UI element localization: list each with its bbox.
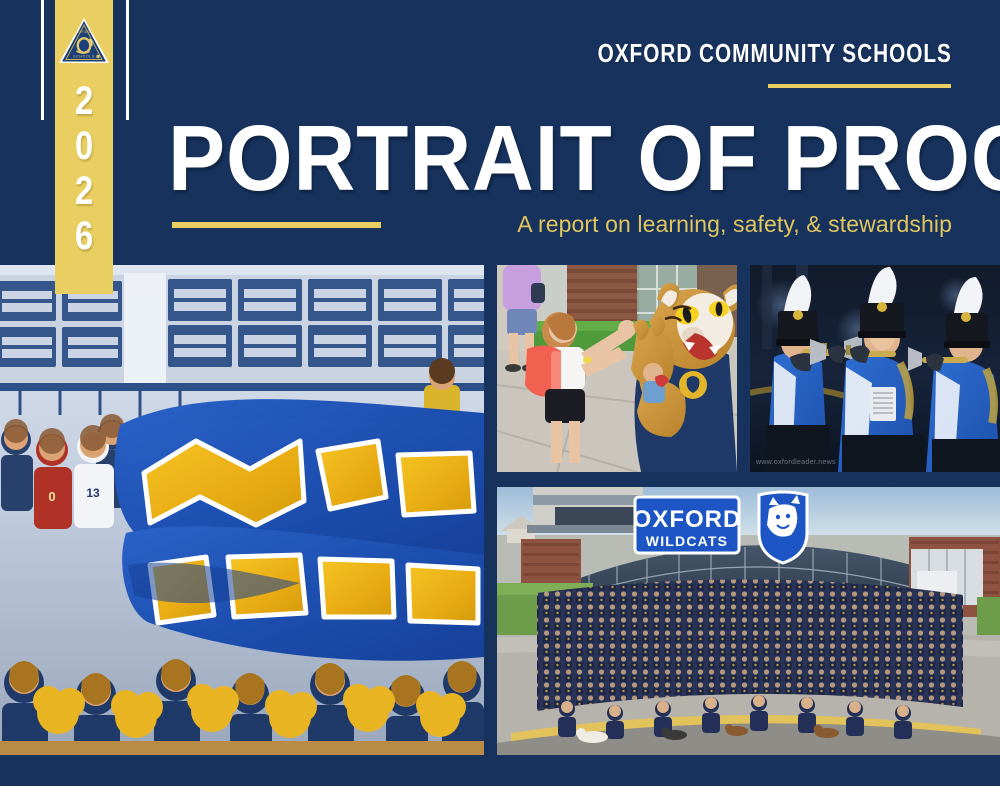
- svg-text:0: 0: [48, 489, 55, 504]
- building-sign-line1: OXFORD: [633, 506, 742, 533]
- staff-group-photo: OXFORD WILDCATS: [497, 487, 1000, 755]
- svg-text:13: 13: [86, 486, 100, 500]
- building-sign-line2: WILDCATS: [646, 533, 728, 549]
- marching-band-photo: www.oxfordleader.news: [750, 265, 1000, 472]
- page-title-underline: [172, 222, 381, 228]
- oxford-community-schools-triangle-logo-icon: OXFORD SCHOOLS: [58, 16, 110, 66]
- pep-rally-flag-photo: 1323 0: [0, 265, 484, 755]
- decorative-rule-right: [126, 0, 129, 120]
- year-digit-2: 0: [75, 127, 93, 172]
- decorative-rule-left: [41, 0, 44, 120]
- photo-collage: 1323 0: [0, 265, 1000, 755]
- year-digit-3: 2: [75, 172, 93, 217]
- mascot-high-five-photo: [497, 265, 737, 472]
- year-banner: OXFORD SCHOOLS 2 0 2 6: [55, 0, 113, 294]
- year-digit-4: 6: [75, 217, 93, 262]
- year-digit-1: 2: [75, 82, 93, 127]
- page-title: PORTRAIT OF PROGRESS: [168, 112, 1000, 205]
- district-name-underline: [768, 84, 951, 88]
- district-name: OXFORD COMMUNITY SCHOOLS: [598, 38, 952, 69]
- svg-text:SCHOOLS: SCHOOLS: [73, 55, 95, 59]
- page-subtitle: A report on learning, safety, & stewards…: [517, 211, 952, 238]
- svg-text:OXFORD: OXFORD: [76, 30, 92, 34]
- report-cover-page: OXFORD SCHOOLS 2 0 2 6 OXFORD COMMUNITY …: [0, 0, 1000, 786]
- year-text: 2 0 2 6: [73, 82, 95, 262]
